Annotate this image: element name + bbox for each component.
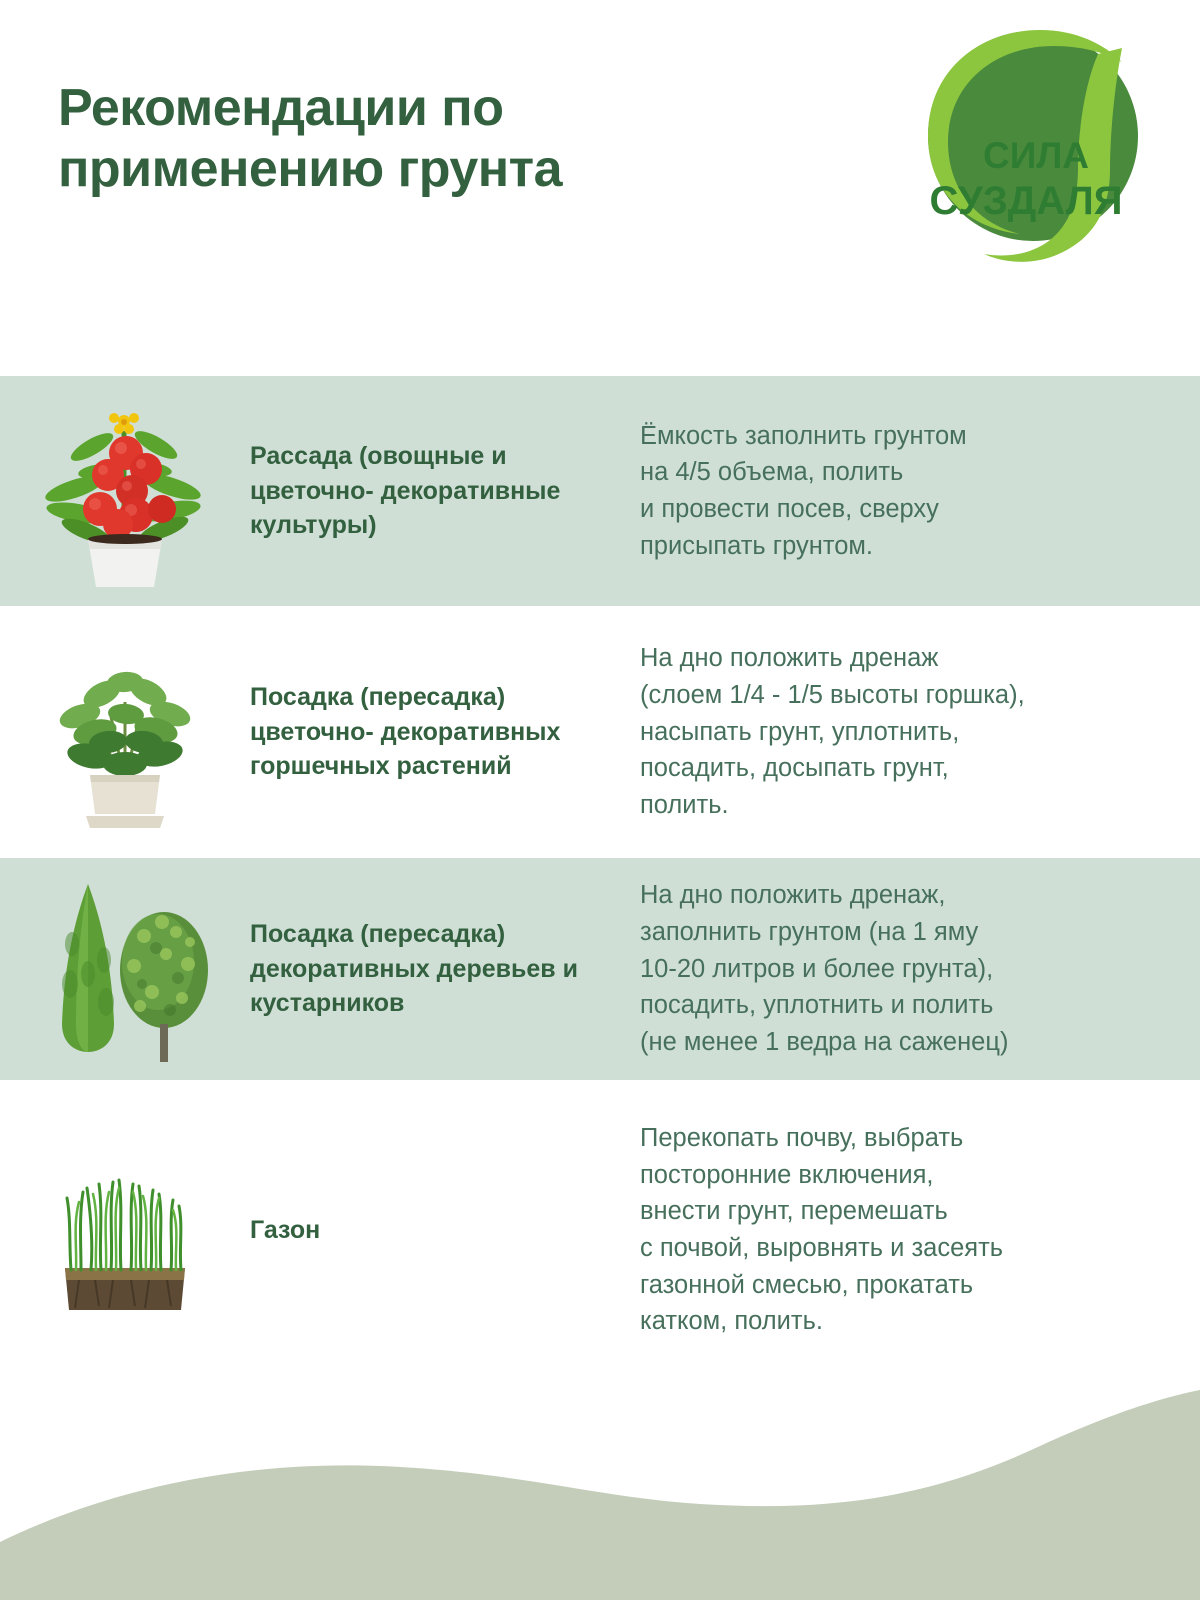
row-figure (0, 376, 250, 606)
page-title: Рекомендации по применению грунта (58, 78, 678, 200)
row-title: Посадка (пересадка) цветочно- декоративн… (250, 680, 640, 784)
row-title: Газон (250, 1213, 640, 1248)
logo-line-1: СИЛА (983, 135, 1089, 176)
brand-logo: СИЛА СУЗДАЛЯ (908, 18, 1158, 280)
row-figure (0, 1080, 250, 1380)
row-description: На дно положить дренаж (слоем 1/4 - 1/5 … (640, 640, 1200, 824)
table-row: Рассада (овощные и цветочно- декоративны… (0, 376, 1200, 606)
infographic-page: Рекомендации по применению грунта СИЛА С… (0, 0, 1200, 1600)
table-row: Посадка (пересадка) цветочно- декоративн… (0, 606, 1200, 858)
row-figure (0, 606, 250, 858)
page-header: Рекомендации по применению грунта СИЛА С… (0, 0, 1200, 376)
row-description: Ёмкость заполнить грунтом на 4/5 объема,… (640, 418, 1200, 565)
potted-houseplant-icon (40, 632, 210, 832)
bottom-wave-decoration (0, 1380, 1200, 1600)
lawn-grass-turf-icon (35, 1140, 215, 1320)
conifer-and-shrub-trees-icon (30, 874, 220, 1064)
logo-line-2: СУЗДАЛЯ (930, 179, 1123, 223)
recommendation-rows: Рассада (овощные и цветочно- декоративны… (0, 376, 1200, 1380)
tomato-seedling-in-pot-icon (40, 391, 210, 591)
table-row: Посадка (пересадка) декоративных деревье… (0, 858, 1200, 1080)
row-title: Рассада (овощные и цветочно- декоративны… (250, 439, 640, 543)
row-description: На дно положить дренаж, заполнить грунто… (640, 877, 1200, 1061)
row-title: Посадка (пересадка) декоративных деревье… (250, 917, 640, 1021)
row-figure (0, 858, 250, 1080)
table-row: Газон Перекопать почву, выбрать посторон… (0, 1080, 1200, 1380)
row-description: Перекопать почву, выбрать посторонние вк… (640, 1120, 1200, 1340)
